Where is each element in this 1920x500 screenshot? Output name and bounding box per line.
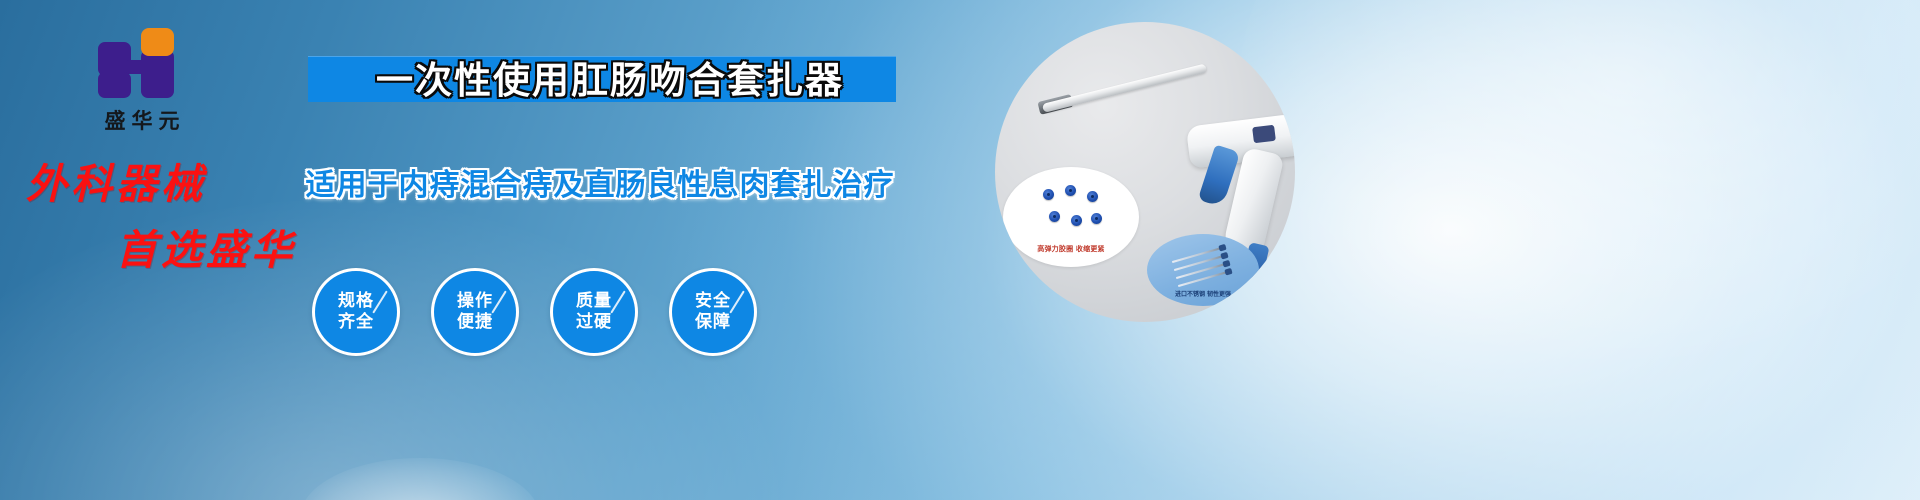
background-arc-bottom [300, 458, 540, 500]
device-control-panel [1252, 125, 1276, 144]
badge-label-line-2: 保障 [695, 312, 731, 333]
inset-needle-samples: 进口不锈钢 韧性更强 [1147, 234, 1259, 306]
slogan-line-2: 首选盛华 [20, 216, 350, 276]
badge-slash-icon [729, 290, 744, 313]
promotional-banner: 盛华元 外科器械 首选盛华 一次性使用肛肠吻合套扎器 适用于内痔混合痔及直肠良性… [0, 0, 1920, 500]
badge-label-line-2: 齐全 [338, 312, 374, 333]
badge-slash-icon [372, 290, 387, 313]
inset-needle-caption: 进口不锈钢 韧性更强 [1147, 289, 1259, 298]
oring-icon [1049, 211, 1060, 222]
logo-shape-accent-square [141, 28, 174, 56]
product-photo: 高弹力胶圈 收缩更紧 进口不锈钢 韧性更强 [995, 22, 1295, 322]
feature-badge-list: 规格 齐全 操作 便捷 质量 过硬 安全 保障 [312, 268, 757, 356]
oring-icon [1087, 191, 1098, 202]
badge-label-line-1: 操作 [457, 291, 493, 312]
oring-icon [1043, 189, 1054, 200]
feature-badge-safety[interactable]: 安全 保障 [669, 268, 757, 356]
device-barrel [1042, 63, 1207, 112]
badge-label-line-1: 质量 [576, 291, 612, 312]
badge-slash-icon [491, 290, 506, 313]
oring-icon [1065, 185, 1076, 196]
oring-icon [1091, 213, 1102, 224]
badge-label-line-1: 规格 [338, 291, 374, 312]
inset-oring-samples: 高弹力胶圈 收缩更紧 [1003, 167, 1139, 267]
logo-shape-right [141, 50, 174, 98]
inset-capsule-sample [1193, 306, 1295, 322]
badge-label-line-2: 便捷 [457, 312, 493, 333]
logo-mark-icon [98, 28, 186, 98]
feature-badge-operation[interactable]: 操作 便捷 [431, 268, 519, 356]
badge-slash-icon [610, 290, 625, 313]
oring-icon [1071, 215, 1082, 226]
badge-label-line-2: 过硬 [576, 312, 612, 333]
page-title: 一次性使用肛肠吻合套扎器 [330, 57, 890, 105]
needle-icon [1172, 247, 1223, 263]
logo-shape-left-lower [98, 72, 131, 98]
brand-name: 盛华元 [62, 105, 222, 135]
background-glow-top-right [1240, 0, 1920, 360]
subtitle: 适用于内痔混合痔及直肠良性息肉套扎治疗 [290, 160, 910, 204]
brand-logo[interactable]: 盛华元 [62, 28, 222, 135]
badge-label-line-1: 安全 [695, 291, 731, 312]
feature-badge-quality[interactable]: 质量 过硬 [550, 268, 638, 356]
inset-oring-caption: 高弹力胶圈 收缩更紧 [1003, 244, 1139, 254]
feature-badge-specifications[interactable]: 规格 齐全 [312, 268, 400, 356]
